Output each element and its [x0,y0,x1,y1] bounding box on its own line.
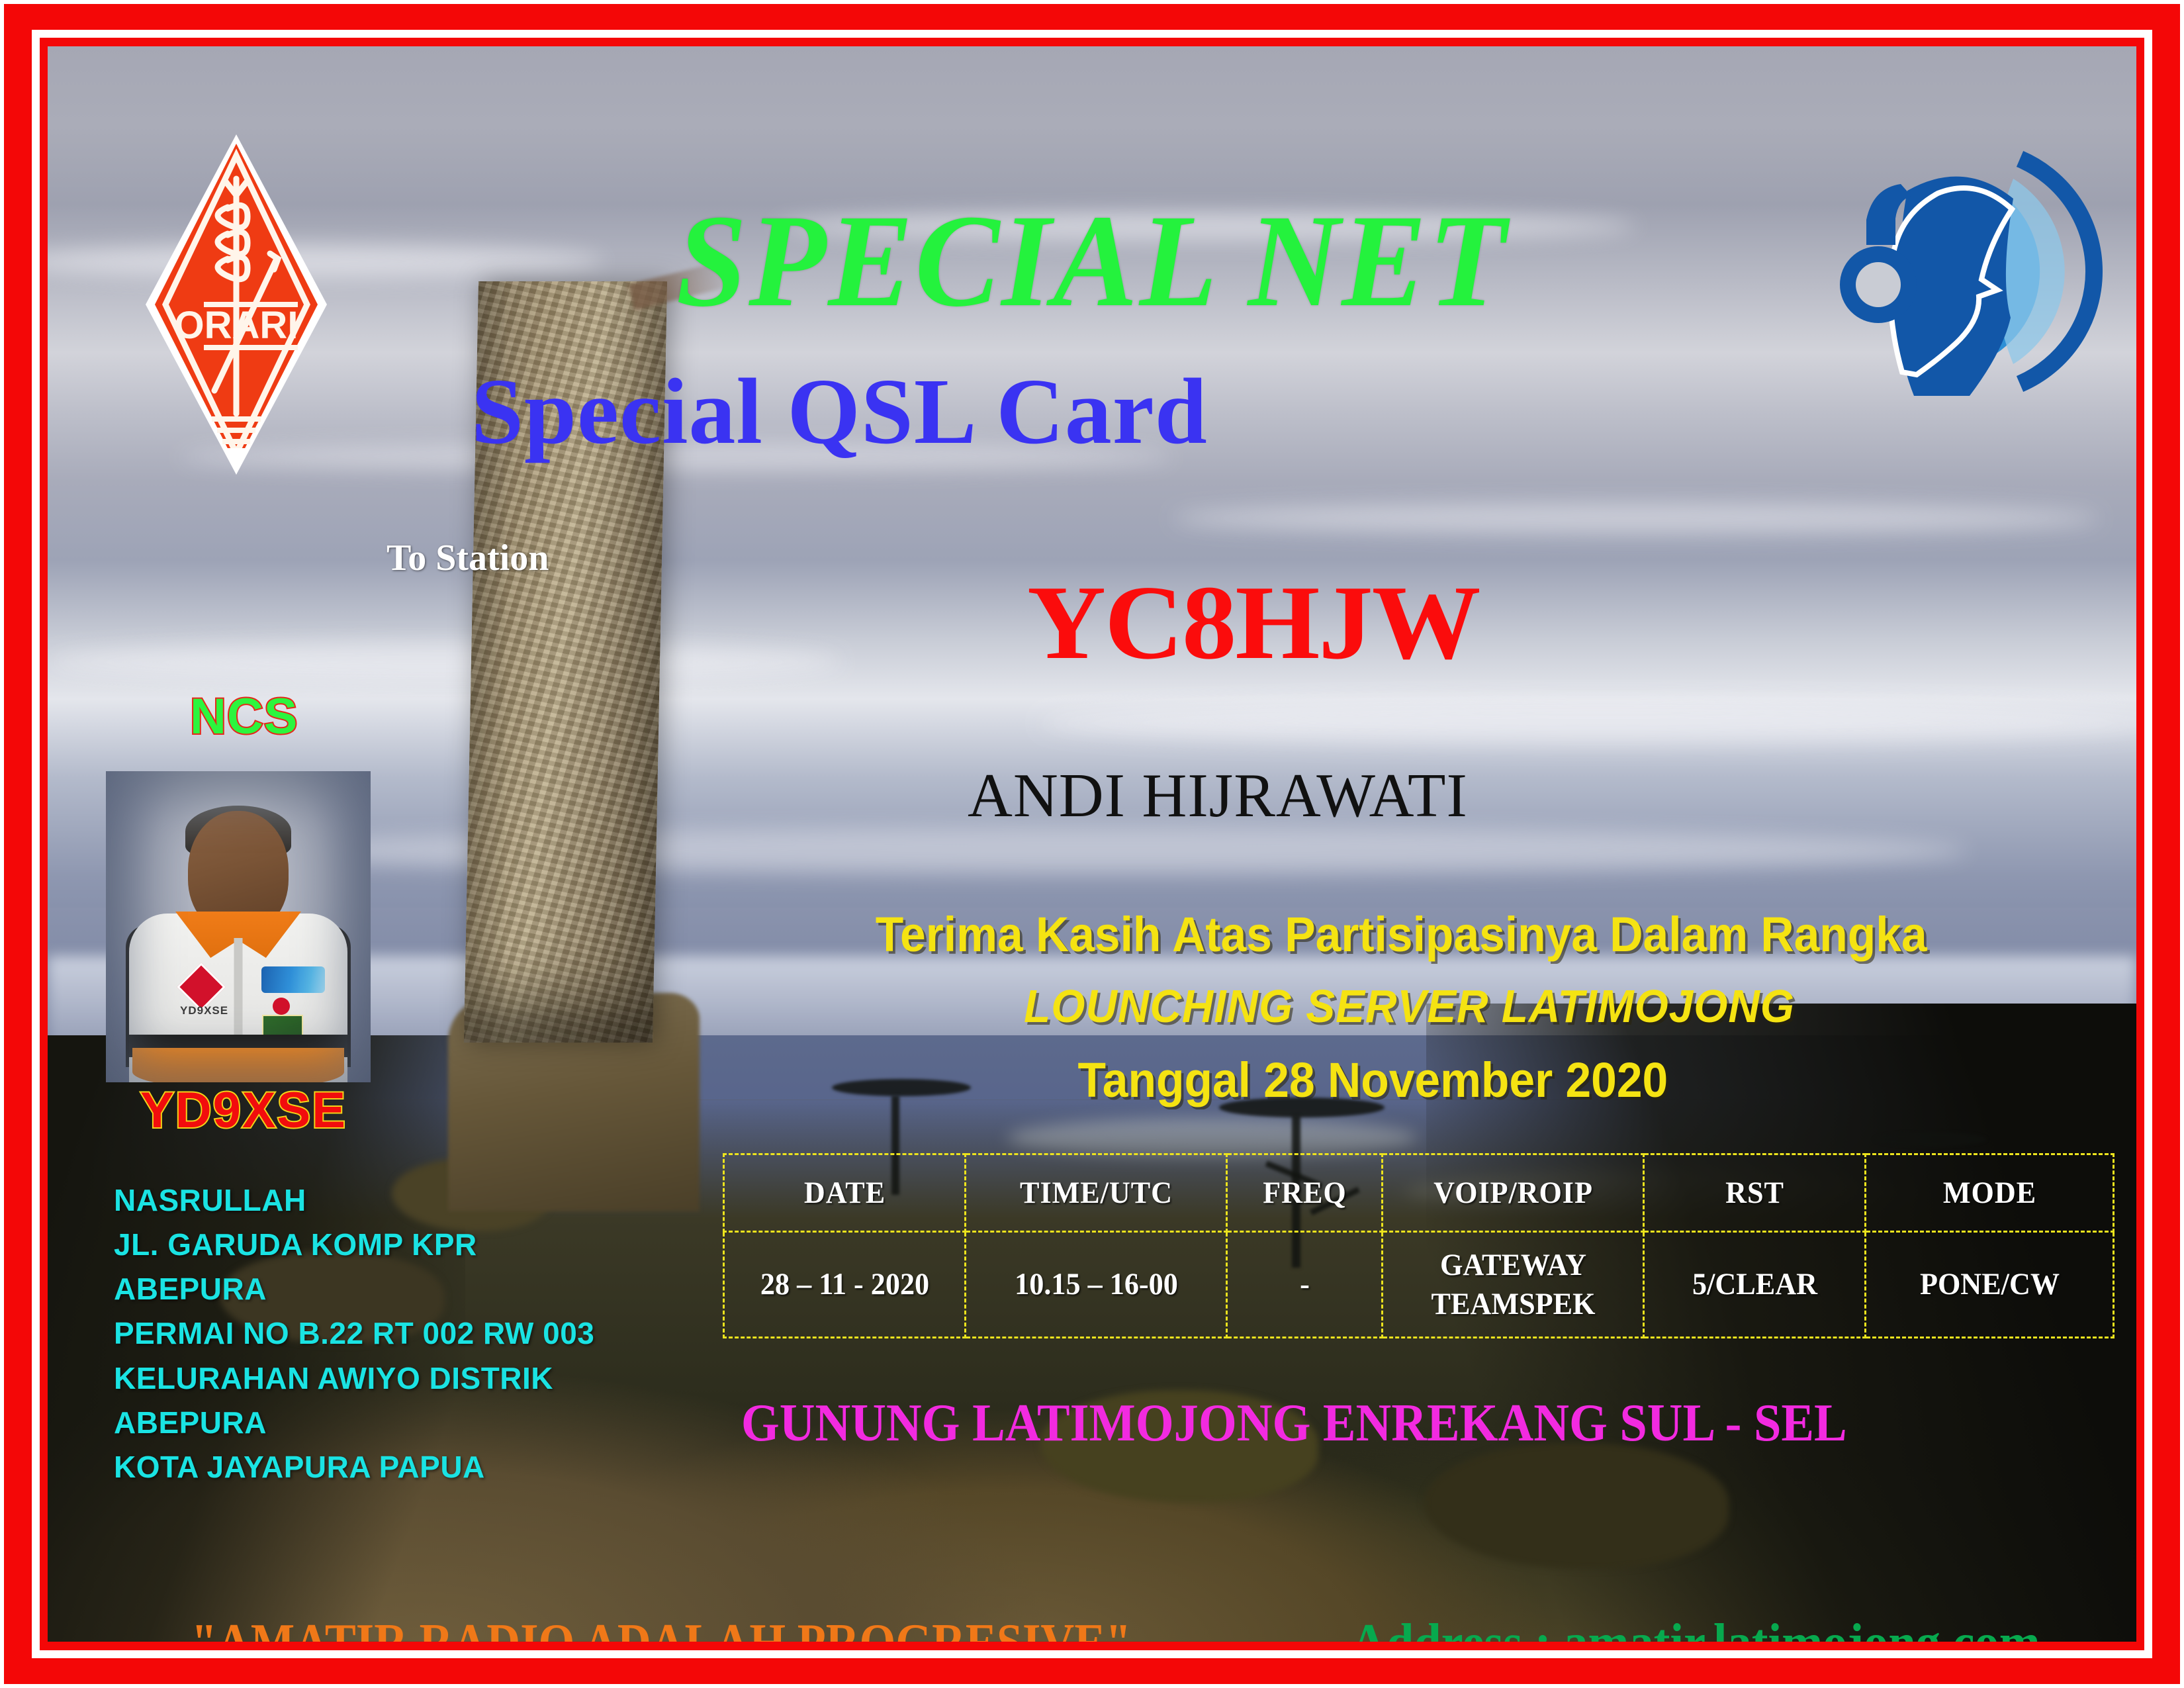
column-header-freq: FREQ [1232,1154,1378,1232]
cloud-streak-icon [48,642,842,682]
photo-vignette [106,771,371,1082]
column-header-date: DATE [731,1154,958,1232]
cell-date: 28 – 11 - 2020 [731,1232,958,1338]
address-line: ABEPURA [114,1401,594,1445]
cell-time: 10.15 – 16-00 [973,1232,1218,1338]
cell-mode: PONE/CW [1873,1232,2107,1338]
address-line: KELURAHAN AWIYO DISTRIK [114,1356,594,1401]
background-photo-mountain-summit: ORARI [48,46,2136,1642]
thanks-line-1: Terima Kasih Atas Partisipasinya Dalam R… [876,910,1927,959]
page-subtitle: Special QSL Card [471,364,1208,458]
cell-voip: GATEWAY TEAMSPEK [1390,1232,1635,1338]
address-line: ABEPURA [114,1267,594,1311]
cloud-streak-icon [1040,702,2136,744]
table-row: 28 – 11 - 2020 10.15 – 16-00 - GATEWAY T… [724,1232,2114,1338]
thanks-line-2: LOUNCHING SERVER LATIMOJONG [1024,983,1795,1029]
cloud-streak-icon [1173,503,2099,534]
column-header-mode: MODE [1873,1154,2107,1232]
qso-log-table: DATE TIME/UTC FREQ VOIP/ROIP RST MODE 28… [723,1153,2115,1338]
address-line: NASRULLAH [114,1178,594,1223]
operator-name: ANDI HIJRAWATI [968,765,1468,827]
thanks-line-3: Tanggal 28 November 2020 [1077,1056,1668,1105]
cell-rst: 5/CLEAR [1651,1232,1859,1338]
station-callsign: YC8HJW [1027,569,1479,675]
ncs-operator-photo: YD9XSE [106,771,371,1082]
address-line: PERMAI NO B.22 RT 002 RW 003 [114,1311,594,1356]
motto-text: "AMATIR RADIO ADALAH PROGRESIVE" [191,1617,1131,1642]
location-caption: GUNUNG LATIMOJONG ENREKANG SUL - SEL [741,1397,1847,1450]
tree-silhouette [832,1079,971,1096]
column-header-time-utc: TIME/UTC [973,1154,1218,1232]
column-header-rst: RST [1651,1154,1859,1232]
station-address-block: NASRULLAH JL. GARUDA KOMP KPR ABEPURA PE… [114,1178,594,1489]
cell-voip-line-2: TEAMSPEK [1431,1287,1595,1321]
cell-voip-line-1: GATEWAY [1440,1248,1586,1282]
address-line: JL. GARUDA KOMP KPR [114,1223,594,1267]
tree-silhouette [1874,1132,1987,1147]
column-header-voip-roip: VOIP/ROIP [1390,1154,1635,1232]
ncs-label: NCS [190,692,298,742]
address-line: KOTA JAYAPURA PAPUA [114,1445,594,1489]
qsl-card: ORARI [0,0,2184,1688]
page-title: SPECIAL NET [89,195,2095,328]
table-header-row: DATE TIME/UTC FREQ VOIP/ROIP RST MODE [724,1154,2114,1232]
to-station-label: To Station [387,539,549,577]
cell-freq: - [1232,1232,1378,1338]
ncs-callsign: YD9XSE [140,1086,347,1136]
website-address: Address : amatir.latimojong.com [1351,1617,2040,1642]
